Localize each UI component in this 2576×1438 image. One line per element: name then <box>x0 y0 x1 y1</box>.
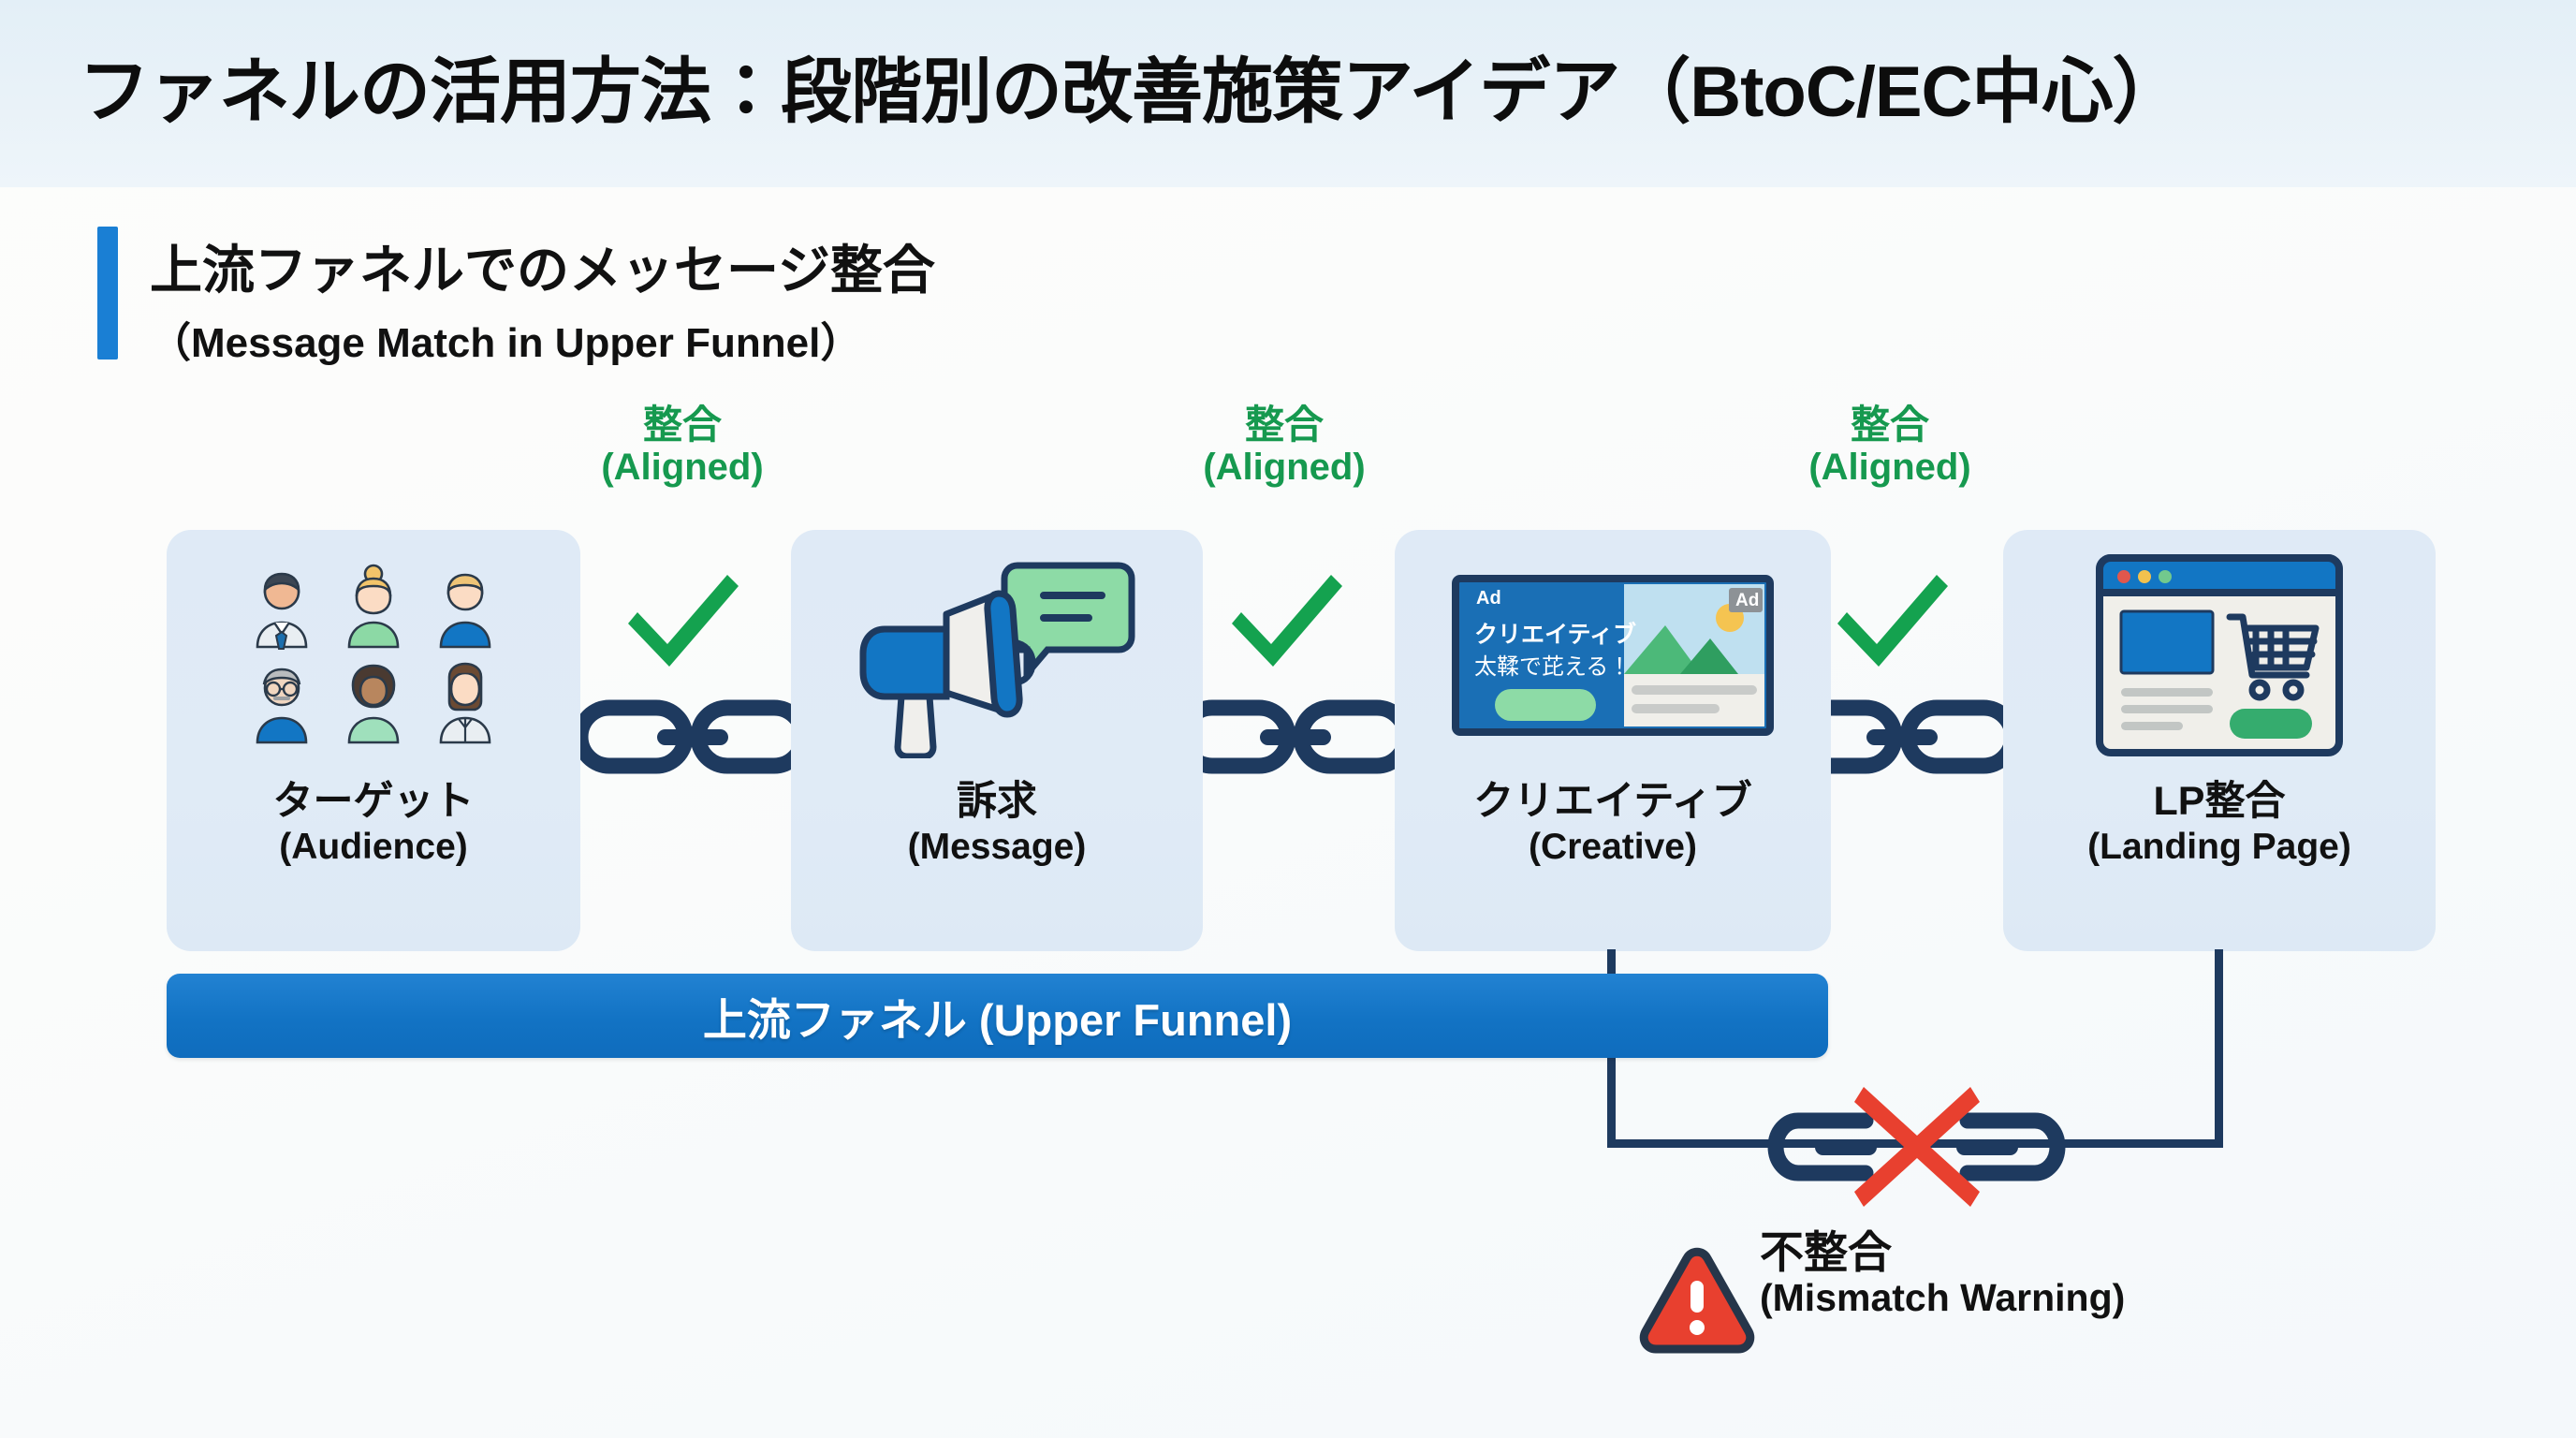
window-dot-red <box>2117 570 2130 583</box>
check-icon <box>1224 569 1346 672</box>
avatar-icon <box>242 563 321 653</box>
connector-label-en: (Aligned) <box>542 447 823 489</box>
ad-creative-icon: Ad Ad クリエイティブ 太鞣で芘える！ <box>1395 530 1831 781</box>
chain-link-icon <box>1178 695 1412 779</box>
ad-headline: クリエイティブ <box>1474 616 1636 650</box>
stage-label-jp: ターゲット <box>273 781 475 823</box>
connector-label-jp: 整合 <box>542 403 823 447</box>
section-accent-bar <box>97 227 118 359</box>
stage-card-creative[interactable]: Ad Ad クリエイティブ 太鞣で芘える！ クリエイティブ (Creative) <box>1395 530 1831 951</box>
stage-label-jp: LP整合 <box>2154 781 2286 823</box>
mismatch-label-jp: 不整合 <box>1760 1228 2125 1277</box>
warning-triangle-icon <box>1638 1245 1756 1356</box>
connector-label-jp: 整合 <box>1144 403 1425 447</box>
stage-label-jp: クリエイティブ <box>1473 781 1752 823</box>
avatar-icon <box>426 563 505 653</box>
connector-label-en: (Aligned) <box>1144 447 1425 489</box>
stage-label-en: (Creative) <box>1529 827 1697 869</box>
stage-label-en: (Landing Page) <box>2087 827 2351 869</box>
connector-label-en: (Aligned) <box>1749 447 2030 489</box>
section-heading-en: （Message Match in Upper Funnel） <box>150 309 861 369</box>
mismatch-label-en: (Mismatch Warning) <box>1760 1277 2125 1319</box>
stage-label-jp: 訴求 <box>957 781 1037 823</box>
connector-label-jp: 整合 <box>1749 403 2030 447</box>
stage-card-landing-page[interactable]: LP整合 (Landing Page) <box>2003 530 2436 951</box>
avatar-icon <box>334 658 413 748</box>
avatar-icon <box>242 658 321 748</box>
ad-badge-left: Ad <box>1476 588 1501 609</box>
section-heading-jp: 上流ファネルでのメッセージ整合 <box>150 228 935 304</box>
speech-bubble-icon <box>1004 565 1132 674</box>
upper-funnel-label: 上流ファネル (Upper Funnel) <box>703 984 1292 1049</box>
window-dot-green <box>2159 570 2172 583</box>
stage-label-en: (Audience) <box>279 827 468 869</box>
stage-card-message[interactable]: 訴求 (Message) <box>791 530 1203 951</box>
ad-badge-right: Ad <box>1735 591 1759 611</box>
connector-label-aligned-3: 整合 (Aligned) <box>1749 403 2030 489</box>
connector-label-aligned-1: 整合 (Aligned) <box>542 403 823 489</box>
landing-page-icon <box>2003 530 2436 781</box>
mismatch-x-icon <box>1851 1081 1983 1212</box>
upper-funnel-bar[interactable]: 上流ファネル (Upper Funnel) <box>167 974 1828 1058</box>
slide-root: ファネルの活用方法：段階別の改善施策アイデア（BtoC/EC中心） 上流ファネル… <box>0 0 2576 1438</box>
window-dot-yellow <box>2138 570 2151 583</box>
megaphone-icon <box>791 530 1203 781</box>
stage-label-en: (Message) <box>908 827 1087 869</box>
people-grid <box>242 563 505 748</box>
avatar-icon <box>334 563 413 653</box>
check-icon <box>621 569 742 672</box>
ad-subline: 太鞣で芘える！ <box>1474 648 1631 681</box>
stage-card-audience[interactable]: ターゲット (Audience) <box>167 530 580 951</box>
connector-label-aligned-2: 整合 (Aligned) <box>1144 403 1425 489</box>
chain-link-icon <box>575 695 809 779</box>
megaphone-body <box>863 594 1032 756</box>
mismatch-caption: 不整合 (Mismatch Warning) <box>1760 1228 2125 1319</box>
audience-people-icon <box>167 530 580 781</box>
avatar-icon <box>426 658 505 748</box>
check-icon <box>1830 569 1952 672</box>
page-title: ファネルの活用方法：段階別の改善施策アイデア（BtoC/EC中心） <box>79 34 2182 137</box>
connector-line-landing-page <box>2215 949 2223 1148</box>
